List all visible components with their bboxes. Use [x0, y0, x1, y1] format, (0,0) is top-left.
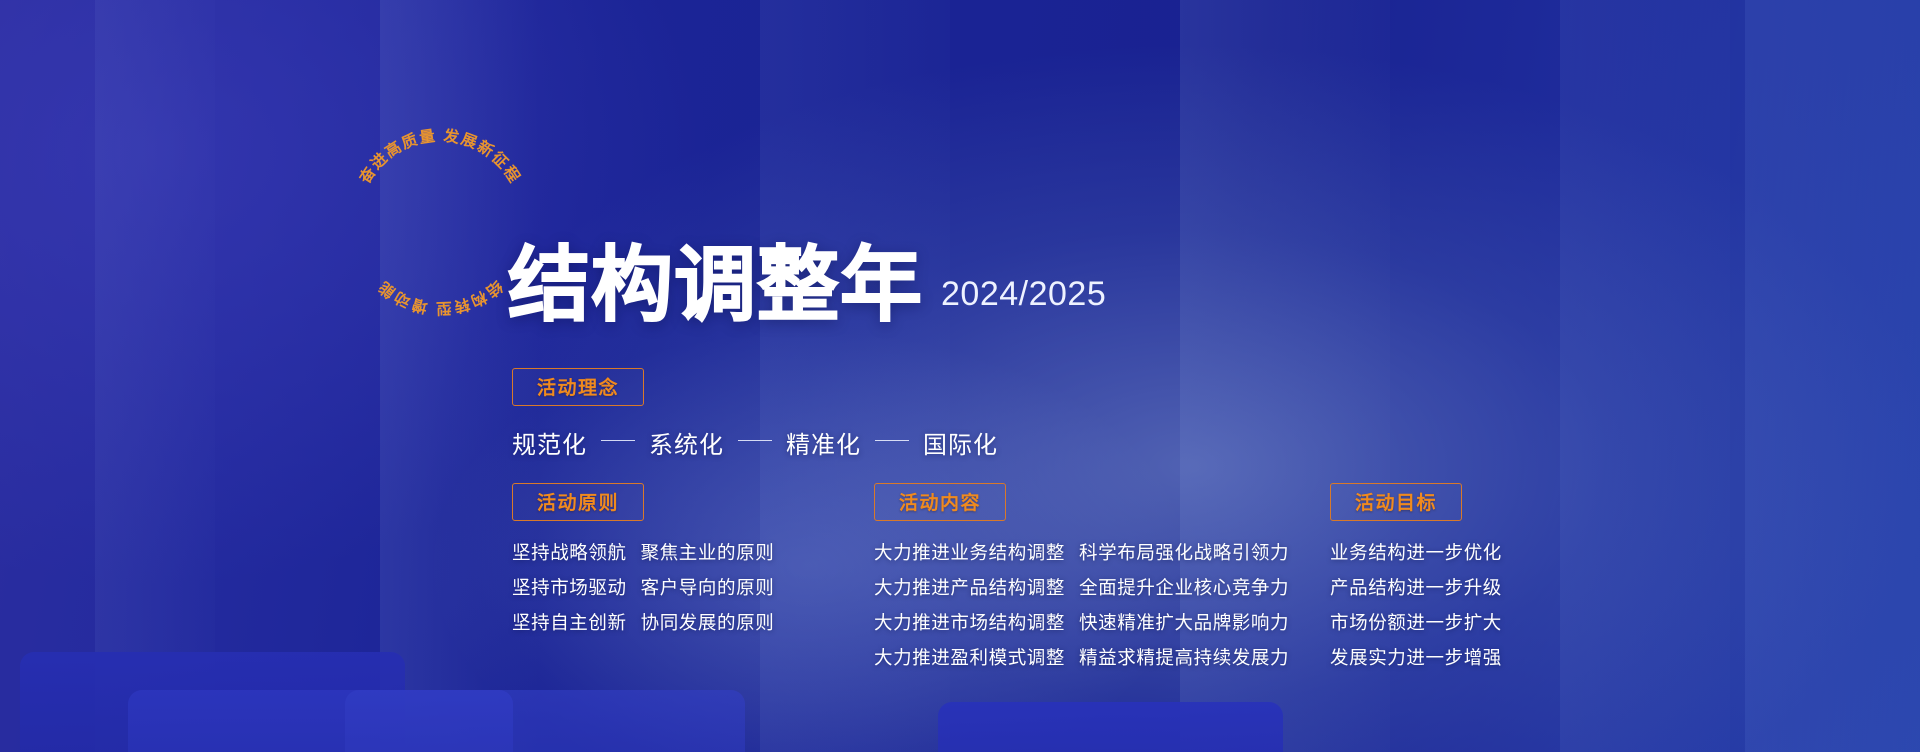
background-band	[1560, 0, 1730, 752]
decor-block	[128, 690, 513, 752]
circular-seal: 奋进高质量 发展新征程 结构转型 增动能	[345, 122, 535, 312]
background-band	[95, 0, 215, 752]
list-item-primary: 市场份额进一步扩大	[1330, 609, 1502, 635]
list-item-primary: 坚持战略领航	[512, 539, 627, 565]
list-item-primary: 发展实力进一步增强	[1330, 644, 1502, 670]
list-item-secondary: 全面提升企业核心竞争力	[1079, 574, 1289, 600]
list-item: 市场份额进一步扩大	[1330, 609, 1502, 635]
list-item-primary: 业务结构进一步优化	[1330, 539, 1502, 565]
list-item-secondary: 快速精准扩大品牌影响力	[1079, 609, 1289, 635]
concept-item: 系统化	[649, 425, 724, 460]
decor-block	[345, 690, 745, 752]
list-item-secondary: 协同发展的原则	[641, 609, 775, 635]
list-item: 大力推进盈利模式调整精益求精提高持续发展力	[874, 644, 1289, 670]
content-badge-label: 活动内容	[899, 488, 981, 515]
seal-top-text: 奋进高质量 发展新征程	[355, 126, 525, 188]
principles-rows: 坚持战略领航聚焦主业的原则坚持市场驱动客户导向的原则坚持自主创新协同发展的原则	[512, 539, 774, 635]
list-item: 大力推进产品结构调整全面提升企业核心竞争力	[874, 574, 1289, 600]
goals-badge-label: 活动目标	[1355, 488, 1437, 515]
list-item-primary: 坚持市场驱动	[512, 574, 627, 600]
column-goals: 活动目标 业务结构进一步优化产品结构进一步升级市场份额进一步扩大发展实力进一步增…	[1330, 483, 1502, 670]
list-item-primary: 坚持自主创新	[512, 609, 627, 635]
headline: 结构调整年 2024/2025	[508, 248, 1106, 323]
list-item-primary: 大力推进业务结构调整	[874, 539, 1065, 565]
list-item-secondary: 客户导向的原则	[641, 574, 775, 600]
concept-item: 规范化	[512, 425, 587, 460]
principles-badge[interactable]: 活动原则	[512, 483, 644, 521]
background-band	[1745, 0, 1920, 752]
list-item-secondary: 精益求精提高持续发展力	[1079, 644, 1289, 670]
list-item: 大力推进市场结构调整快速精准扩大品牌影响力	[874, 609, 1289, 635]
list-item: 坚持战略领航聚焦主业的原则	[512, 539, 774, 565]
poster-stage: 奋进高质量 发展新征程 结构转型 增动能 结构调整年 2024/2025 活动理…	[0, 0, 1920, 752]
decor-block	[938, 702, 1283, 752]
list-item-secondary: 科学布局强化战略引领力	[1079, 539, 1289, 565]
year-range: 2024/2025	[941, 275, 1106, 323]
concept-badge-label: 活动理念	[537, 373, 619, 400]
list-item: 产品结构进一步升级	[1330, 574, 1502, 600]
list-item: 发展实力进一步增强	[1330, 644, 1502, 670]
list-item-secondary: 聚焦主业的原则	[641, 539, 775, 565]
goals-rows: 业务结构进一步优化产品结构进一步升级市场份额进一步扩大发展实力进一步增强	[1330, 539, 1502, 670]
concept-badge[interactable]: 活动理念	[512, 368, 644, 406]
concept-separator	[875, 440, 909, 441]
list-item: 业务结构进一步优化	[1330, 539, 1502, 565]
list-item: 坚持自主创新协同发展的原则	[512, 609, 774, 635]
concept-separator	[601, 440, 635, 441]
list-item-primary: 大力推进产品结构调整	[874, 574, 1065, 600]
column-content: 活动内容 大力推进业务结构调整科学布局强化战略引领力大力推进产品结构调整全面提升…	[874, 483, 1289, 670]
list-item: 坚持市场驱动客户导向的原则	[512, 574, 774, 600]
content-badge[interactable]: 活动内容	[874, 483, 1006, 521]
concept-items: 规范化系统化精准化国际化	[512, 425, 998, 460]
concept-item: 精准化	[786, 425, 861, 460]
concept-item: 国际化	[923, 425, 998, 460]
list-item: 大力推进业务结构调整科学布局强化战略引领力	[874, 539, 1289, 565]
concept-separator	[738, 440, 772, 441]
content-rows: 大力推进业务结构调整科学布局强化战略引领力大力推进产品结构调整全面提升企业核心竞…	[874, 539, 1289, 670]
decor-block	[20, 652, 405, 752]
list-item-primary: 产品结构进一步升级	[1330, 574, 1502, 600]
seal-bottom-text: 结构转型 增动能	[374, 276, 508, 317]
page-title: 结构调整年	[508, 248, 923, 323]
list-item-primary: 大力推进市场结构调整	[874, 609, 1065, 635]
column-principles: 活动原则 坚持战略领航聚焦主业的原则坚持市场驱动客户导向的原则坚持自主创新协同发…	[512, 483, 774, 635]
principles-badge-label: 活动原则	[537, 488, 619, 515]
goals-badge[interactable]: 活动目标	[1330, 483, 1462, 521]
list-item-primary: 大力推进盈利模式调整	[874, 644, 1065, 670]
